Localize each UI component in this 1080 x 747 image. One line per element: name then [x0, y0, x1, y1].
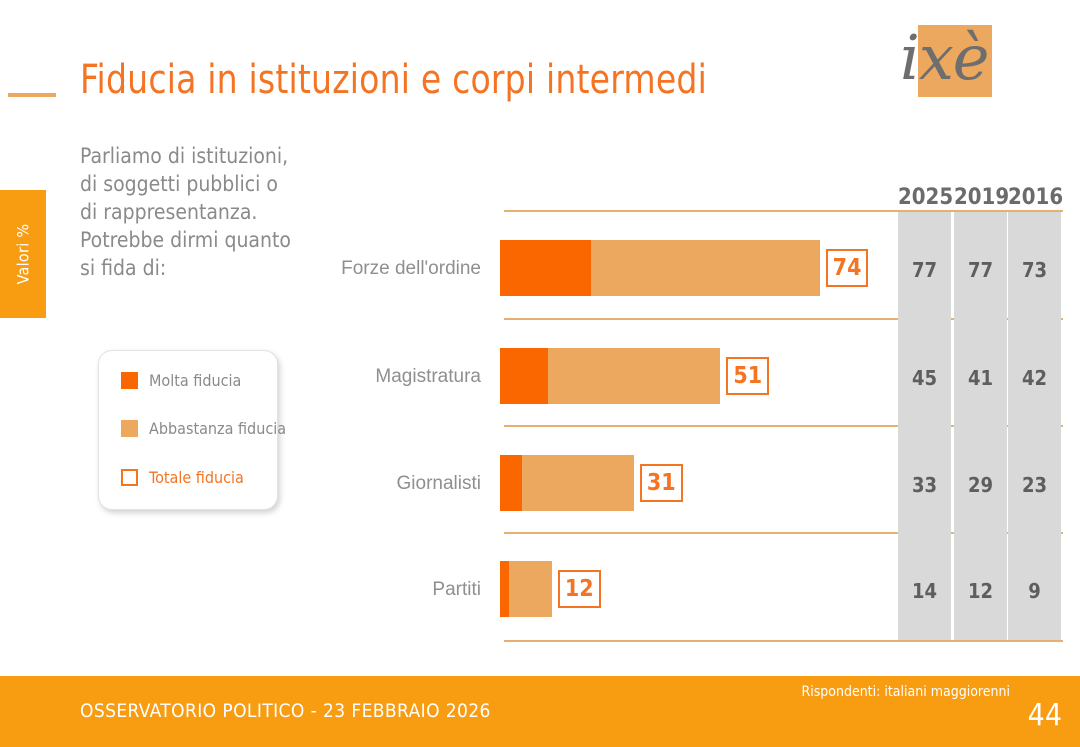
slide-footer: OSSERVATORIO POLITICO - 23 FEBBRAIO 2026…: [0, 676, 1080, 747]
bar-total-value: 31: [640, 464, 683, 502]
footer-respondents-note: Rispondenti: italiani maggiorenni: [801, 684, 1010, 700]
table-cell-value: 23: [1008, 473, 1061, 497]
bar-segment-molta: [500, 348, 548, 404]
bar-total-value: 12: [558, 570, 601, 608]
chart-area: 202520192016Forze dell'ordine74777773Mag…: [0, 0, 1080, 660]
bar-category-label: Forze dell'ordine: [341, 258, 481, 280]
bar-segment-abbastanza: [591, 240, 820, 296]
table-cell-value: 14: [898, 579, 951, 603]
bar-segment-molta: [500, 561, 509, 617]
bar-total-value: 51: [726, 357, 769, 395]
table-column-header-2016: 2016: [1008, 185, 1061, 210]
table-cell-value: 77: [954, 258, 1007, 282]
bar-segment-abbastanza: [509, 561, 552, 617]
bar-category-label: Partiti: [432, 579, 481, 601]
slide: Fiducia in istituzioni e corpi intermedi…: [0, 0, 1080, 747]
table-cell-value: 12: [954, 579, 1007, 603]
stacked-bar[interactable]: [500, 455, 634, 511]
bar-total-value: 74: [826, 249, 869, 287]
table-cell-value: 45: [898, 366, 951, 390]
bar-segment-molta: [500, 455, 522, 511]
stacked-bar[interactable]: [500, 240, 820, 296]
table-cell-value: 77: [898, 258, 951, 282]
stacked-bar[interactable]: [500, 561, 552, 617]
bar-category-label: Magistratura: [375, 366, 481, 388]
table-cell-value: 9: [1008, 579, 1061, 603]
stacked-bar[interactable]: [500, 348, 720, 404]
bar-segment-molta: [500, 240, 591, 296]
table-column-header-2019: 2019: [954, 185, 1007, 210]
footer-title: OSSERVATORIO POLITICO - 23 FEBBRAIO 2026: [80, 700, 491, 722]
footer-page-number: 44: [1028, 698, 1062, 733]
table-cell-value: 33: [898, 473, 951, 497]
grid-line: [504, 640, 1063, 642]
table-cell-value: 41: [954, 366, 1007, 390]
bar-category-label: Giornalisti: [397, 473, 481, 495]
bar-segment-abbastanza: [522, 455, 634, 511]
table-cell-value: 42: [1008, 366, 1061, 390]
bar-segment-abbastanza: [548, 348, 721, 404]
table-cell-value: 73: [1008, 258, 1061, 282]
table-cell-value: 29: [954, 473, 1007, 497]
table-column-header-2025: 2025: [898, 185, 951, 210]
